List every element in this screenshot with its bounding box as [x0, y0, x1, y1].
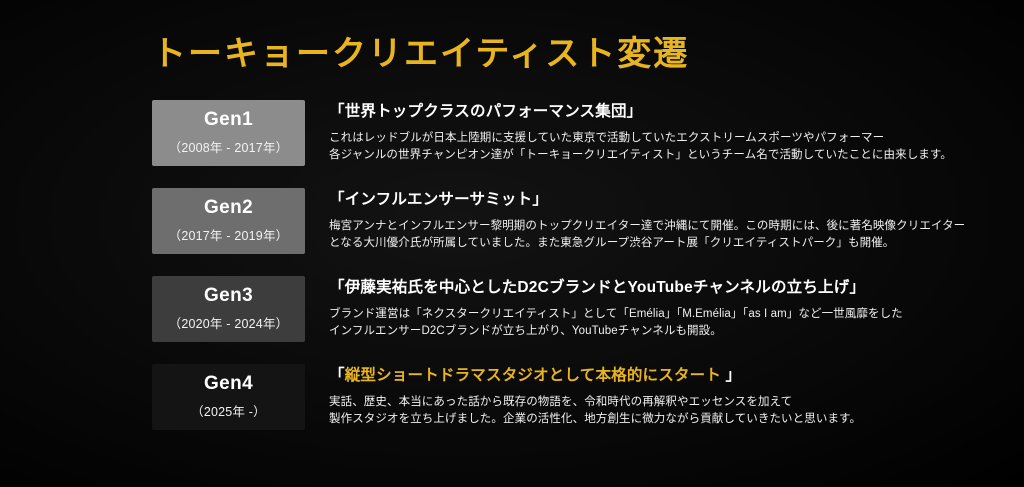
gen-description-line: 各ジャンルの世界チャンピオン達が「トーキョークリエイティスト」というチーム名で活… — [329, 147, 1002, 164]
gen-badge-range: （2008年 - 2017年） — [169, 137, 289, 156]
gen-badge-range: （2025年 -） — [191, 401, 266, 420]
gen-heading: 「縦型ショートドラマスタジオとして本格的にスタート 」 — [329, 366, 1002, 387]
gen-description-line: となる大川優介氏が所属していました。また東急グループ渋谷アート展「クリエイティス… — [329, 235, 1002, 252]
gen-heading-highlight: 縦型ショートドラマスタジオとして本格的にスタート — [345, 367, 721, 384]
gen-description-line: これはレッドブルが日本上陸期に支援していた東京で活動していたエクストリームスポー… — [329, 130, 1002, 147]
gen-badge-range: （2017年 - 2019年） — [169, 225, 289, 244]
gen-badge-label: Gen3 — [204, 286, 253, 307]
gen-badge-label: Gen1 — [204, 110, 253, 131]
gen-badge-label: Gen2 — [204, 198, 253, 219]
gen-badge-gen4: Gen4 （2025年 -） — [152, 364, 305, 430]
gen-heading-suffix: 」 — [721, 367, 741, 384]
gen-body-gen1: 「世界トップクラスのパフォーマンス集団」 これはレッドブルが日本上陸期に支援して… — [305, 100, 1002, 164]
gen-description-line: 製作スタジオを立ち上げました。企業の活性化、地方創生に微力ながら貢献していきたい… — [329, 411, 1002, 428]
timeline-list: Gen1 （2008年 - 2017年） 「世界トップクラスのパフォーマンス集団… — [152, 100, 1002, 452]
gen-badge-gen1: Gen1 （2008年 - 2017年） — [152, 100, 305, 166]
gen-heading-prefix: 「 — [329, 367, 345, 384]
gen-body-gen4: 「縦型ショートドラマスタジオとして本格的にスタート 」 実話、歴史、本当にあった… — [305, 364, 1002, 428]
list-item: Gen3 （2020年 - 2024年） 「伊藤実祐氏を中心としたD2Cブランド… — [152, 276, 1002, 342]
gen-description-line: 実話、歴史、本当にあった話から既存の物語を、令和時代の再解釈やエッセンスを加えて — [329, 394, 1002, 411]
gen-body-gen3: 「伊藤実祐氏を中心としたD2CブランドとYouTubeチャンネルの立ち上げ」 ブ… — [305, 276, 1002, 340]
gen-badge-label: Gen4 — [204, 374, 253, 395]
gen-body-gen2: 「インフルエンサーサミット」 梅宮アンナとインフルエンサー黎明期のトップクリエイ… — [305, 188, 1002, 252]
gen-heading: 「世界トップクラスのパフォーマンス集団」 — [329, 102, 1002, 123]
gen-heading: 「伊藤実祐氏を中心としたD2CブランドとYouTubeチャンネルの立ち上げ」 — [329, 278, 1002, 299]
gen-badge-gen3: Gen3 （2020年 - 2024年） — [152, 276, 305, 342]
gen-description-line: 梅宮アンナとインフルエンサー黎明期のトップクリエイター達で沖縄にて開催。この時期… — [329, 218, 1002, 235]
list-item: Gen2 （2017年 - 2019年） 「インフルエンサーサミット」 梅宮アン… — [152, 188, 1002, 254]
list-item: Gen1 （2008年 - 2017年） 「世界トップクラスのパフォーマンス集団… — [152, 100, 1002, 166]
gen-badge-range: （2020年 - 2024年） — [169, 313, 289, 332]
gen-description-line: インフルエンサーD2Cブランドが立ち上がり、YouTubeチャンネルも開設。 — [329, 323, 1002, 340]
slide-root: トーキョークリエイティスト変遷 Gen1 （2008年 - 2017年） 「世界… — [0, 0, 1024, 487]
gen-heading: 「インフルエンサーサミット」 — [329, 190, 1002, 211]
gen-description-line: ブランド運営は「ネクスタークリエイティスト」として「Emélia」「M.Emél… — [329, 306, 1002, 323]
page-title: トーキョークリエイティスト変遷 — [152, 34, 689, 75]
list-item: Gen4 （2025年 -） 「縦型ショートドラマスタジオとして本格的にスタート… — [152, 364, 1002, 430]
gen-badge-gen2: Gen2 （2017年 - 2019年） — [152, 188, 305, 254]
